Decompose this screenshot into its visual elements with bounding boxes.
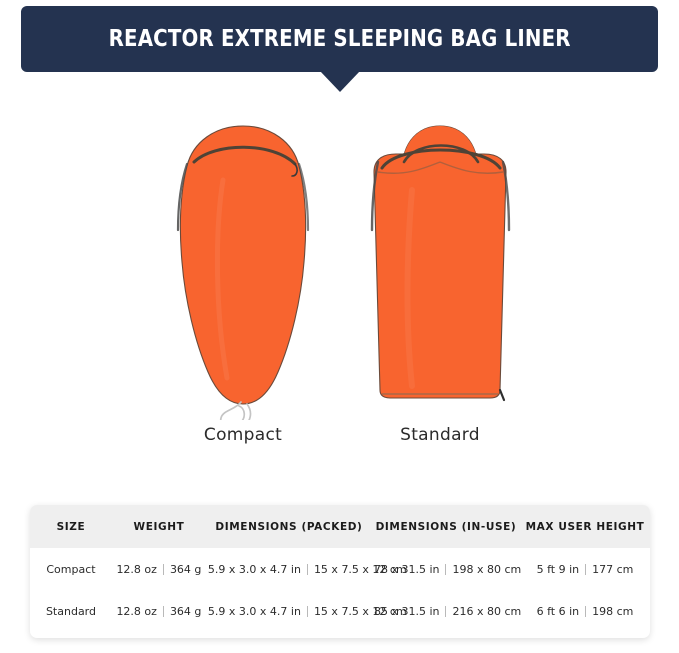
header-banner: REACTOR EXTREME SLEEPING BAG LINER [21, 6, 658, 72]
drawcord-loop-icon [221, 402, 251, 420]
column-header-max-height: MAX USER HEIGHT [520, 505, 650, 548]
header-pointer-triangle [320, 71, 360, 92]
spec-table: SIZE WEIGHT DIMENSIONS (PACKED) DIMENSIO… [30, 505, 650, 638]
cell-dim-inuse: 78 x 31.5 in 198 x 80 cm [372, 548, 520, 590]
height-metric: 177 cm [592, 563, 633, 576]
table-row: Standard 12.8 oz 364 g 5.9 x 3.0 x 4.7 i… [30, 590, 650, 638]
page-title: REACTOR EXTREME SLEEPING BAG LINER [108, 26, 570, 52]
unit-separator [163, 606, 164, 617]
weight-metric: 364 g [170, 563, 201, 576]
weight-metric: 364 g [170, 605, 201, 618]
unit-separator [307, 564, 308, 575]
unit-separator [445, 564, 446, 575]
product-illustrations: Compact Standar [0, 110, 679, 460]
spec-table-body: Compact 12.8 oz 364 g 5.9 x 3.0 x 4.7 in… [30, 548, 650, 638]
packed-imperial: 5.9 x 3.0 x 4.7 in [208, 605, 301, 618]
spec-table-panel: SIZE WEIGHT DIMENSIONS (PACKED) DIMENSIO… [30, 505, 650, 638]
table-row: Compact 12.8 oz 364 g 5.9 x 3.0 x 4.7 in… [30, 548, 650, 590]
unit-separator [585, 564, 586, 575]
unit-separator [307, 606, 308, 617]
cell-dim-inuse: 85 x 31.5 in 216 x 80 cm [372, 590, 520, 638]
unit-separator [445, 606, 446, 617]
cell-max-height: 6 ft 6 in 198 cm [520, 590, 650, 638]
height-metric: 198 cm [592, 605, 633, 618]
column-header-weight: WEIGHT [112, 505, 206, 548]
cell-weight: 12.8 oz 364 g [112, 590, 206, 638]
weight-imperial: 12.8 oz [116, 605, 157, 618]
bag-illustration-standard: Standard [320, 110, 560, 460]
table-header-row: SIZE WEIGHT DIMENSIONS (PACKED) DIMENSIO… [30, 505, 650, 548]
cell-size: Standard [30, 590, 112, 638]
unit-separator [585, 606, 586, 617]
cell-dim-packed: 5.9 x 3.0 x 4.7 in 15 x 7.5 x 12 cm [206, 590, 372, 638]
column-header-size: SIZE [30, 505, 112, 548]
spec-table-head: SIZE WEIGHT DIMENSIONS (PACKED) DIMENSIO… [30, 505, 650, 548]
cell-dim-packed: 5.9 x 3.0 x 4.7 in 15 x 7.5 x 12 cm [206, 548, 372, 590]
height-imperial: 5 ft 9 in [537, 563, 580, 576]
column-header-dim-packed: DIMENSIONS (PACKED) [206, 505, 372, 548]
height-imperial: 6 ft 6 in [537, 605, 580, 618]
bag-caption-standard: Standard [320, 425, 560, 445]
inuse-metric: 216 x 80 cm [452, 605, 521, 618]
cell-max-height: 5 ft 9 in 177 cm [520, 548, 650, 590]
cell-weight: 12.8 oz 364 g [112, 548, 206, 590]
weight-imperial: 12.8 oz [116, 563, 157, 576]
column-header-dim-inuse: DIMENSIONS (IN-USE) [372, 505, 520, 548]
inuse-metric: 198 x 80 cm [452, 563, 521, 576]
packed-imperial: 5.9 x 3.0 x 4.7 in [208, 563, 301, 576]
standard-bag-icon [320, 110, 560, 420]
inuse-imperial: 78 x 31.5 in [374, 563, 440, 576]
cell-size: Compact [30, 548, 112, 590]
inuse-imperial: 85 x 31.5 in [374, 605, 440, 618]
unit-separator [163, 564, 164, 575]
